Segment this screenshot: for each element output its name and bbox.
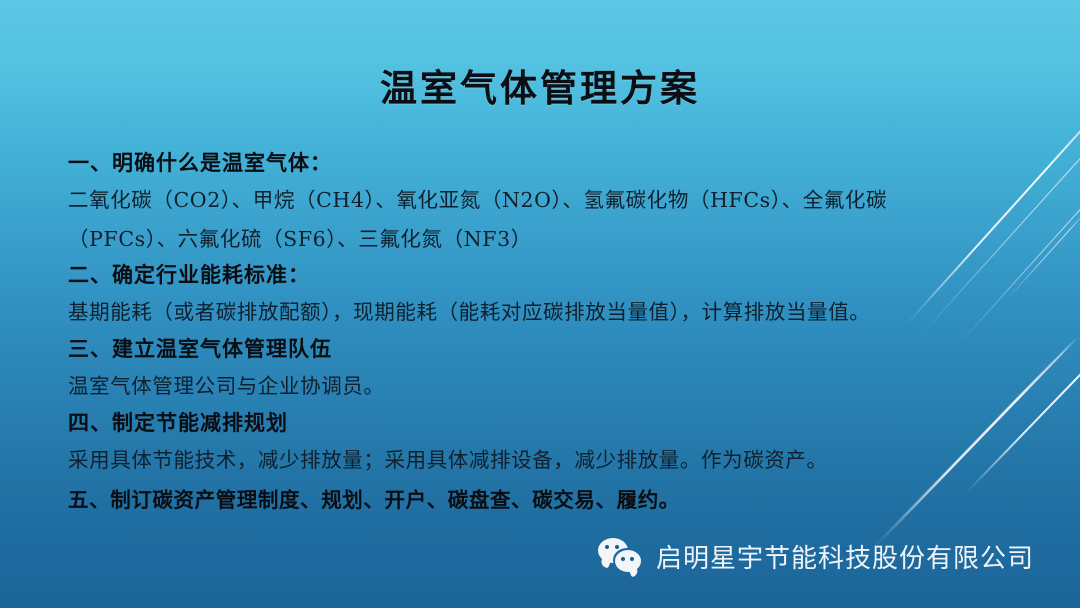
wechat-icon [598,536,644,576]
slide-body: 一、明确什么是温室气体： 二氧化碳（CO2）、甲烷（CH4）、氧化亚氮（N2O）… [68,146,1050,520]
section-heading-one: 一、明确什么是温室气体： [68,146,1050,180]
wechat-watermark: 启明星宇节能科技股份有限公司 [598,536,1034,576]
section-body-four: 采用具体节能技术，减少排放量；采用具体减排设备，减少排放量。作为碳资产。 [68,440,1050,480]
wechat-dot [605,545,609,549]
presentation-slide: 温室气体管理方案 一、明确什么是温室气体： 二氧化碳（CO2）、甲烷（CH4）、… [0,0,1080,608]
section-heading-four: 四、制定节能减排规划 [68,406,1050,440]
slide-title: 温室气体管理方案 [0,58,1080,112]
wechat-dot [615,545,619,549]
company-name: 启明星宇节能科技股份有限公司 [656,538,1034,575]
section-heading-two: 二、确定行业能耗标准： [68,258,1050,292]
wechat-bubble-small [615,550,641,572]
wechat-dot [621,557,625,561]
section-body-two: 基期能耗（或者碳排放配额），现期能耗（能耗对应碳排放当量值），计算排放当量值。 [68,292,1050,332]
section-body-one-a: 二氧化碳（CO2）、甲烷（CH4）、氧化亚氮（N2O）、氢氟碳化物（HFCs）、… [68,180,1050,220]
section-body-one-b: （PFCs）、六氟化硫（SF6）、三氟化氮（NF3） [68,220,1050,258]
section-heading-five: 五、制订碳资产管理制度、规划、开户、碳盘查、碳交易、履约。 [68,480,1050,520]
wechat-dot [630,557,634,561]
section-body-three: 温室气体管理公司与企业协调员。 [68,366,1050,406]
section-heading-three: 三、建立温室气体管理队伍 [68,332,1050,366]
